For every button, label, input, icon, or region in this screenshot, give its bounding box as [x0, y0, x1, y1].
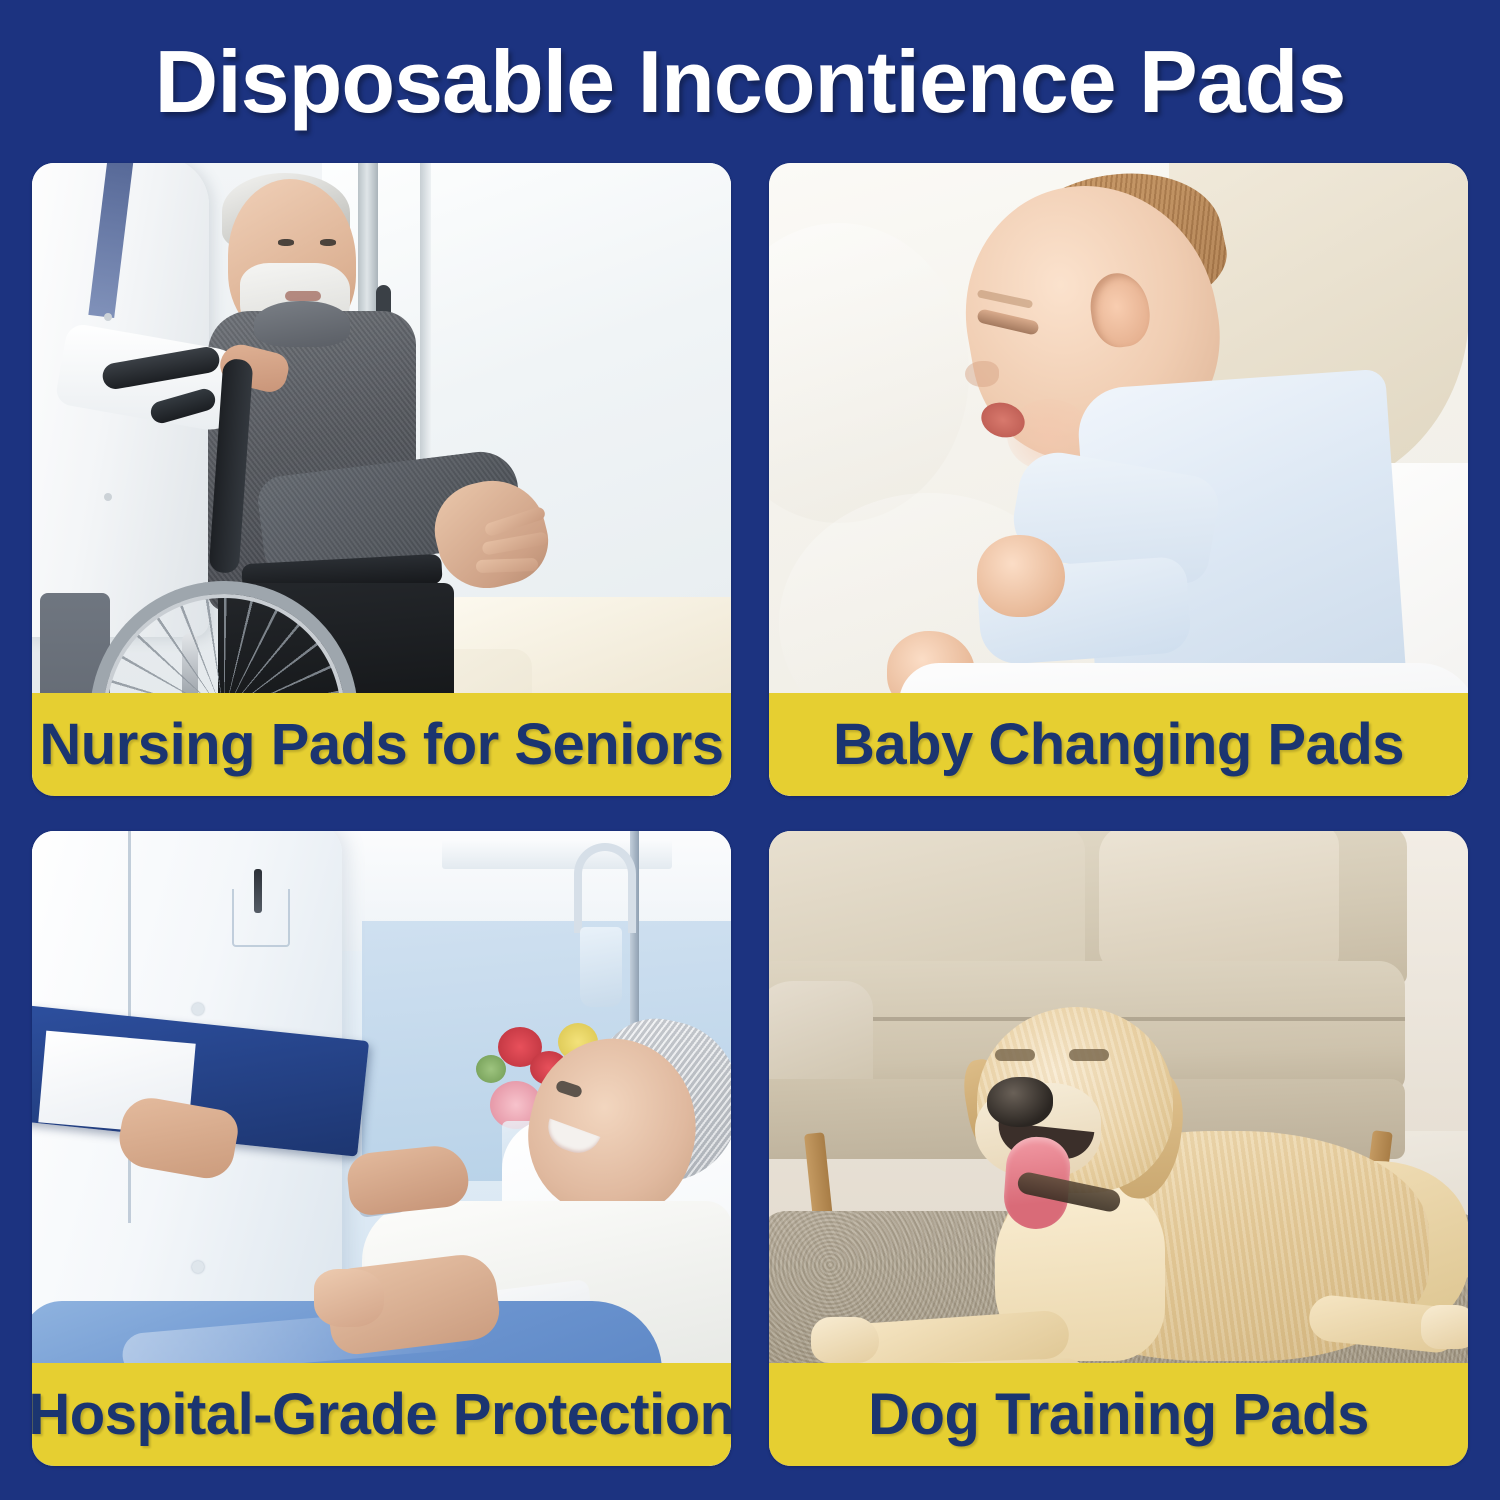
- sofa-cushion-left: [769, 831, 1085, 975]
- dog-closed-eye: [1069, 1049, 1109, 1061]
- product-infographic: Disposable Incontience Pads: [0, 0, 1500, 1500]
- card-caption-band: Hospital-Grade Protection: [32, 1363, 731, 1466]
- feature-card-grid: Nursing Pads for Seniors: [32, 163, 1468, 1466]
- feature-card-dog-training-pads[interactable]: Dog Training Pads: [769, 831, 1468, 1466]
- doctor-coat-button: [192, 1261, 204, 1273]
- dog-closed-eye: [995, 1049, 1035, 1061]
- senior-collar: [254, 301, 350, 347]
- iv-bottle: [580, 927, 622, 1007]
- iv-hook: [574, 843, 636, 933]
- sofa-throw-pillow: [1099, 831, 1339, 971]
- flower-leaf: [476, 1055, 506, 1083]
- patient-hand: [314, 1269, 384, 1327]
- card-caption-band: Nursing Pads for Seniors: [32, 693, 731, 796]
- pen-in-pocket: [254, 869, 262, 913]
- feature-card-hospital-grade-protection[interactable]: Hospital-Grade Protection: [32, 831, 731, 1466]
- feature-card-nursing-pads-for-seniors[interactable]: Nursing Pads for Seniors: [32, 163, 731, 796]
- dog-nose: [987, 1077, 1053, 1127]
- feature-card-baby-changing-pads[interactable]: Baby Changing Pads: [769, 163, 1468, 796]
- sheet-fold: [769, 223, 969, 523]
- card-caption-text: Hospital-Grade Protection: [32, 1381, 731, 1448]
- senior-mouth: [285, 291, 321, 301]
- page-title: Disposable Incontience Pads: [0, 22, 1500, 142]
- coat-button: [104, 493, 112, 501]
- coat-button: [104, 313, 112, 321]
- card-caption-band: Dog Training Pads: [769, 1363, 1468, 1466]
- senior-eye: [278, 239, 294, 246]
- card-caption-text: Baby Changing Pads: [833, 711, 1404, 778]
- card-caption-band: Baby Changing Pads: [769, 693, 1468, 796]
- dog-hind-paw: [1421, 1305, 1468, 1349]
- senior-finger: [476, 558, 538, 573]
- baby-fist: [977, 535, 1065, 617]
- doctor-coat-button: [192, 1003, 204, 1015]
- baby-nose: [965, 361, 999, 387]
- card-caption-text: Dog Training Pads: [868, 1381, 1369, 1448]
- senior-eye: [320, 239, 336, 246]
- card-caption-text: Nursing Pads for Seniors: [39, 711, 723, 778]
- dog-front-paw: [811, 1317, 879, 1363]
